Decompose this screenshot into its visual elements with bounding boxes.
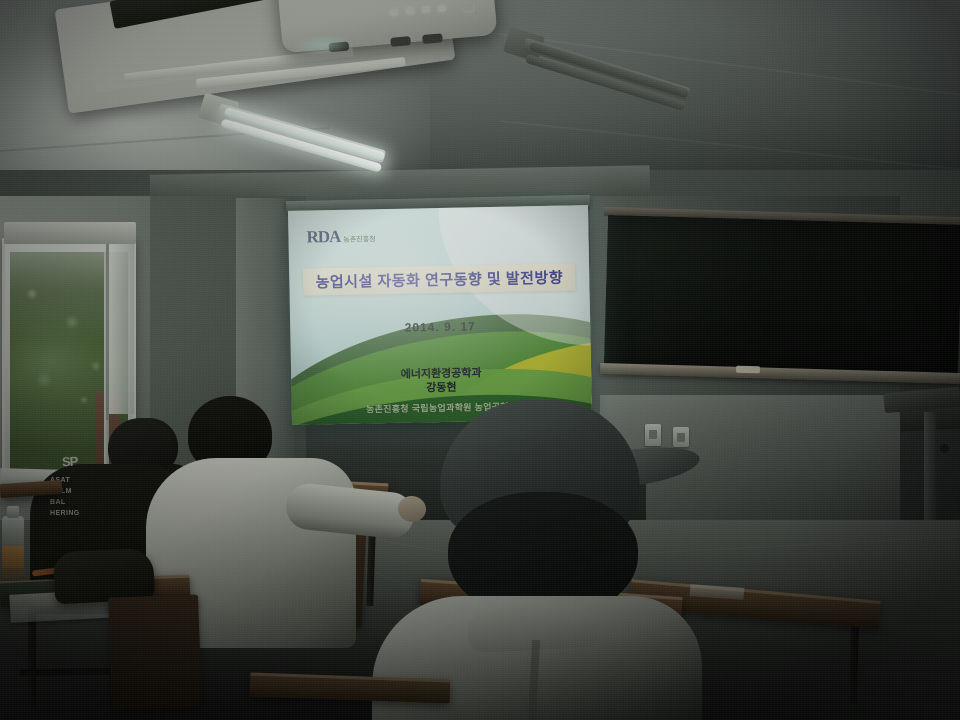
lectern-adjust-knob[interactable] [940,444,949,453]
roller-blind[interactable] [108,244,134,414]
person-baseball-cap [372,400,712,720]
projector-led [406,8,414,15]
projector-led [390,9,398,16]
projection-screen: RDA 농촌진흥청 농업시설 자동화 연구동향 및 발전방향 2014. 9. … [288,205,592,425]
roller-blind-housing[interactable] [4,222,136,244]
bottle-label [2,546,24,568]
rda-logo: RDA 농촌진흥청 [306,227,375,245]
blackboard [604,215,960,377]
projector-lens-glow [292,31,354,58]
projector-led [422,6,430,13]
chalk-eraser[interactable] [736,366,760,374]
rda-logo-korean-text: 농촌진흥청 [343,236,375,245]
roller-blind-edge [106,244,109,420]
projector-foot [390,36,411,47]
slide-title: 농업시설 자동화 연구동향 및 발전방향 [315,267,563,293]
projector-foot [422,33,443,44]
slide-title-band: 농업시설 자동화 연구동향 및 발전방향 [303,263,575,295]
bottle-cap[interactable] [7,506,19,518]
classroom-photo: RDA 농촌진흥청 농업시설 자동화 연구동향 및 발전방향 2014. 9. … [0,0,960,720]
slide-presenter-block: 에너지환경공학과 강동현 [291,365,591,398]
jacket-logo: SP [62,454,78,470]
projector-led [438,5,446,12]
jacket-print-text: ASAT SOLM BAL HERING [50,476,146,519]
water-bottle[interactable] [2,500,24,578]
rda-logo-mark: RDA [306,228,340,246]
blackboard-sheen [604,215,960,377]
chair [108,594,202,709]
